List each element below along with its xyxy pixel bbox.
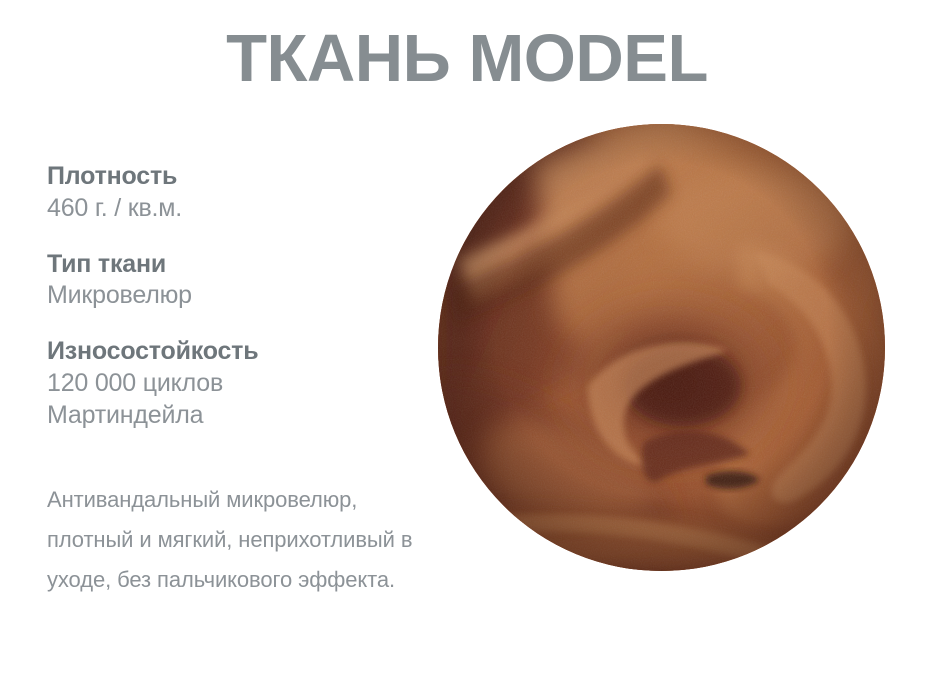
spec-list: Плотность 460 г. / кв.м. Тип ткани Микро… — [47, 162, 437, 457]
spec-item-abrasion-resistance: Износостойкость 120 000 циклов Мартиндей… — [47, 337, 437, 431]
spec-label: Плотность — [47, 162, 437, 192]
spec-item-density: Плотность 460 г. / кв.м. — [47, 162, 437, 224]
spec-value: 460 г. / кв.м. — [47, 192, 437, 224]
spec-label: Износостойкость — [47, 337, 437, 367]
page-title: ТКАНЬ MODEL — [0, 24, 934, 94]
spec-value-line: 460 г. / кв.м. — [47, 192, 437, 224]
spec-value: 120 000 циклов Мартиндейла — [47, 367, 437, 431]
description-text: Антивандальный микровелюр, плотный и мяг… — [47, 480, 447, 600]
spec-value-line: 120 000 циклов — [47, 367, 437, 399]
spec-label: Тип ткани — [47, 250, 437, 280]
spec-value-line: Микровелюр — [47, 279, 437, 311]
fabric-swatch-microvelour — [438, 124, 885, 571]
spec-value: Микровелюр — [47, 279, 437, 311]
fabric-illustration — [438, 124, 885, 571]
slide-canvas: ТКАНЬ MODEL Плотность 460 г. / кв.м. Тип… — [0, 0, 934, 700]
spec-value-line: Мартиндейла — [47, 399, 437, 431]
spec-item-fabric-type: Тип ткани Микровелюр — [47, 250, 437, 312]
